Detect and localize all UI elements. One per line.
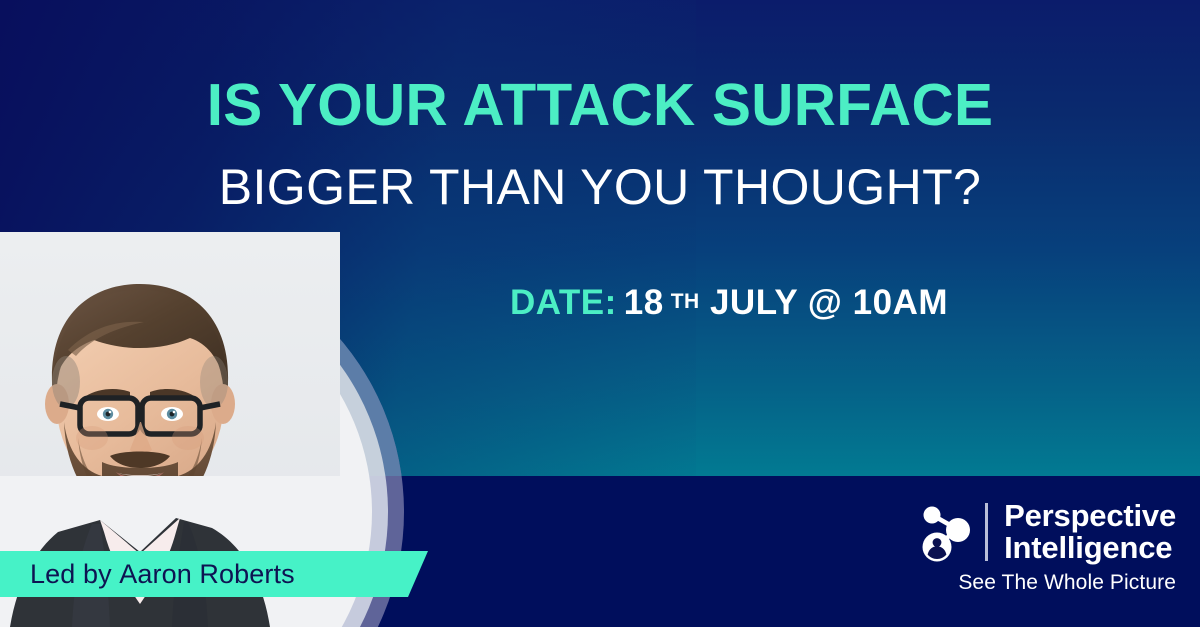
brand-logo[interactable]: Perspective Intelligence See The Whole P… — [919, 500, 1176, 595]
network-nodes-person-icon — [919, 502, 973, 562]
presenter-name: Aaron Roberts — [119, 559, 294, 589]
presenter-led-by-label: Led by — [30, 559, 112, 589]
date-label: DATE: — [510, 283, 617, 322]
date-value-number: 18 — [624, 283, 664, 322]
webinar-promo-banner: IS YOUR ATTACK SURFACE BIGGER THAN YOU T… — [0, 0, 1200, 627]
event-date-line: DATE:18TH JULY @ 10AM — [0, 283, 1200, 323]
date-value-rest: JULY @ 10AM — [700, 283, 948, 322]
presenter-credit: Led by Aaron Roberts — [30, 559, 295, 590]
brand-wordmark: Perspective Intelligence — [1004, 500, 1176, 563]
date-ordinal-suffix: TH — [671, 290, 700, 313]
presenter-name-banner: Led by Aaron Roberts — [0, 551, 428, 597]
brand-logo-row: Perspective Intelligence — [919, 500, 1176, 563]
logo-divider — [985, 503, 988, 561]
brand-word-perspective: Perspective — [1004, 500, 1176, 532]
brand-word-intelligence: Intelligence — [1004, 532, 1176, 564]
brand-tagline: See The Whole Picture — [958, 571, 1176, 595]
